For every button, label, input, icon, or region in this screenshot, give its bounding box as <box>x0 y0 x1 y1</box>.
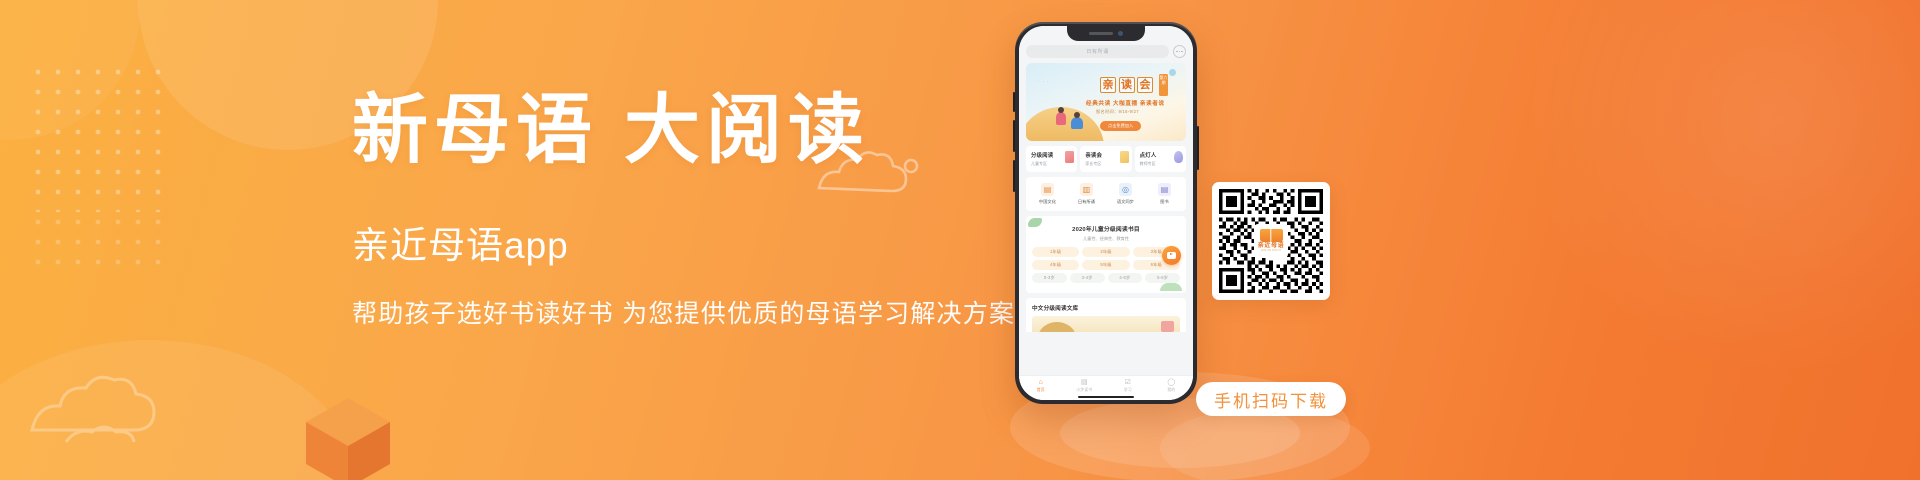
search-input[interactable]: 日有所诵 <box>1026 45 1169 58</box>
phone-volume-up <box>1013 120 1015 152</box>
age-chip[interactable]: 5-6岁 <box>1145 273 1180 283</box>
hero-copy: 新母语大阅读 亲近母语app 帮助孩子选好书读好书 为您提供优质的母语学习解决方… <box>352 92 1012 331</box>
promo-banner: 新母语大阅读 亲近母语app 帮助孩子选好书读好书 为您提供优质的母语学习解决方… <box>0 0 1920 480</box>
grade-chip[interactable]: 5年级 <box>1082 260 1129 270</box>
tab-label: 学习 <box>1124 387 1132 393</box>
age-chip[interactable]: 3-4岁 <box>1070 273 1105 283</box>
grade-chip[interactable]: 4年级 <box>1032 260 1079 270</box>
decor-dot-grid <box>28 62 168 212</box>
banner-subtitle: 经典共读 大咖直播 亲读者说 <box>1086 99 1165 107</box>
leaf-icon-2 <box>1160 283 1182 291</box>
speaker-icon <box>1089 32 1113 35</box>
headline-part-2: 大阅读 <box>624 89 870 173</box>
phone-volume-down <box>1013 160 1015 192</box>
more-icon[interactable] <box>1173 45 1186 58</box>
bookmark-icon <box>1065 151 1074 163</box>
decor-circle-top-left-2 <box>0 0 140 140</box>
child-illustration-1 <box>1056 112 1066 125</box>
banner-ribbon-badge: 第六期 <box>1159 74 1168 96</box>
library-section[interactable]: 中文分级阅读文库 <box>1026 298 1186 332</box>
booklist-title: 2020年儿童分级阅读书目 <box>1032 224 1180 233</box>
booklist-card: 2020年儿童分级阅读书目 儿童性、经典性、教育性 1年级 2年级 3年级 4年… <box>1026 216 1186 293</box>
quick-link-label: 图书 <box>1160 199 1169 205</box>
quick-link-textbook-sync[interactable]: ◎ 语文同步 <box>1106 183 1145 205</box>
video-play-button[interactable] <box>1162 246 1181 265</box>
scan-to-download-button[interactable]: 手机扫码下载 <box>1196 382 1346 416</box>
open-book-icon <box>1260 229 1283 242</box>
age-chip-row: 0-3岁 3-4岁 4-5岁 5-6岁 <box>1032 273 1180 283</box>
tab-reading[interactable]: ▤ 小步读书 <box>1063 379 1107 394</box>
phone-notch <box>1067 26 1145 41</box>
quick-link-books[interactable]: ▤ 图书 <box>1145 183 1184 205</box>
search-row: 日有所诵 <box>1026 45 1186 58</box>
banner-date: 报名时间：9/16-9/27 <box>1096 109 1139 115</box>
banner-title: 亲 读 会 <box>1100 77 1153 93</box>
home-indicator <box>1078 396 1134 399</box>
app-name: 亲近母语app <box>352 224 1012 268</box>
decor-ellipse-under-button <box>1160 408 1370 480</box>
age-chip[interactable]: 4-5岁 <box>1108 273 1143 283</box>
user-icon: ◯ <box>1167 379 1175 386</box>
task-icon: ☑ <box>1125 379 1131 386</box>
person-icon <box>1174 151 1183 163</box>
sun-icon <box>1169 69 1176 76</box>
decor-arc-bottom-left <box>0 340 360 480</box>
bookmark-icon <box>1120 151 1129 163</box>
grade-chip-row-2: 4年级 5年级 6年级 <box>1032 260 1180 270</box>
qr-brand-logo: 亲近母语 QINJIN MUYU <box>1254 224 1288 258</box>
phone-mockup: 日有所诵 · · · 亲 读 会 第六期 经典共读 大咖直 <box>1015 22 1197 404</box>
quick-link-daily-recite[interactable]: ▥ 日有所诵 <box>1067 183 1106 205</box>
zone-card-teacher[interactable]: 点灯人 教师专区 <box>1135 146 1186 172</box>
tab-study[interactable]: ☑ 学习 <box>1106 379 1150 394</box>
zone-card-list: 分级阅读 儿童专区 亲读会 家长专区 点灯人 教师专区 <box>1026 146 1186 172</box>
hero-tagline: 帮助孩子选好书读好书 为您提供优质的母语学习解决方案 <box>352 298 1012 331</box>
circle-icon: ◎ <box>1119 183 1132 196</box>
camera-icon <box>1118 31 1123 36</box>
library-illustration <box>1032 316 1180 332</box>
banner-title-char-1: 亲 <box>1100 77 1116 93</box>
quick-link-label: 语文同步 <box>1117 199 1134 205</box>
phone-mute-switch <box>1013 92 1015 112</box>
headline-part-1: 新母语 <box>352 89 598 173</box>
home-icon: ⌂ <box>1039 379 1043 386</box>
quick-link-label: 日有所诵 <box>1078 199 1095 205</box>
child-illustration-2 <box>1071 117 1083 129</box>
qr-code-card: 亲近母语 QINJIN MUYU <box>1212 182 1330 300</box>
library-icon: ▤ <box>1158 183 1171 196</box>
bottom-tab-bar: ⌂ 首页 ▤ 小步读书 ☑ 学习 ◯ 我的 <box>1019 375 1193 400</box>
tab-home[interactable]: ⌂ 首页 <box>1019 379 1063 394</box>
quick-link-label: 中国文化 <box>1039 199 1056 205</box>
decor-glow-right <box>1520 0 1920 380</box>
qr-code-image: 亲近母语 QINJIN MUYU <box>1219 189 1323 293</box>
quick-link-row: ▤ 中国文化 ▥ 日有所诵 ◎ 语文同步 ▤ 图书 <box>1026 177 1186 211</box>
library-title: 中文分级阅读文库 <box>1032 304 1180 312</box>
grade-chip[interactable]: 2年级 <box>1082 247 1129 257</box>
tab-label: 我的 <box>1167 387 1175 393</box>
quick-link-chinese-culture[interactable]: ▤ 中国文化 <box>1028 183 1067 205</box>
app-screen: 日有所诵 · · · 亲 读 会 第六期 经典共读 大咖直 <box>1019 26 1193 400</box>
app-promo-banner[interactable]: · · · 亲 读 会 第六期 经典共读 大咖直播 亲读者说 报名时间：9/16… <box>1026 63 1186 141</box>
age-chip[interactable]: 0-3岁 <box>1032 273 1067 283</box>
zone-card-graded-reading[interactable]: 分级阅读 儿童专区 <box>1026 146 1077 172</box>
grade-chip-row-1: 1年级 2年级 3年级 <box>1032 247 1180 257</box>
grade-chip[interactable]: 1年级 <box>1032 247 1079 257</box>
tab-label: 小步读书 <box>1076 387 1092 393</box>
banner-title-char-3: 会 <box>1137 77 1153 93</box>
tab-profile[interactable]: ◯ 我的 <box>1150 379 1194 394</box>
booklist-subtitle: 儿童性、经典性、教育性 <box>1032 236 1180 242</box>
decor-cube <box>300 392 396 480</box>
phone-power-button <box>1197 126 1199 170</box>
birds-icon: · · · <box>1038 79 1049 84</box>
cloud-icon-left <box>22 330 192 450</box>
banner-cta-button[interactable]: 点击免费加入 <box>1100 121 1141 131</box>
tab-label: 首页 <box>1037 387 1045 393</box>
decor-dot-grid-fade <box>28 212 168 272</box>
page-title: 新母语大阅读 <box>352 92 1012 172</box>
zone-card-parent-club[interactable]: 亲读会 家长专区 <box>1080 146 1131 172</box>
qr-logo-sub: QINJIN MUYU <box>1261 250 1281 253</box>
scroll-icon: ▤ <box>1041 183 1054 196</box>
book-icon: ▤ <box>1081 379 1088 386</box>
banner-title-char-2: 读 <box>1119 77 1135 93</box>
book-icon: ▥ <box>1080 183 1093 196</box>
